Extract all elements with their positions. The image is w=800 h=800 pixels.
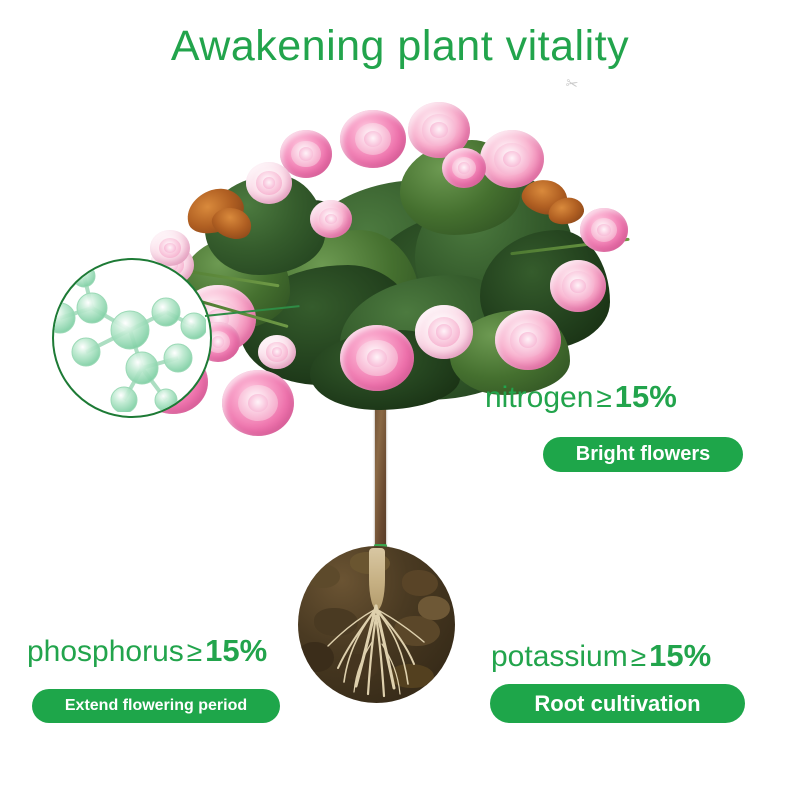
molecule-structure-diagram (52, 258, 212, 418)
product-infographic-poster: Awakening plant vitality ✂ (0, 0, 800, 800)
greater-equal-icon: ≥ (628, 641, 649, 672)
nutrient-label-potassium: potassium≥15% (491, 638, 711, 674)
nutrient-name-phosphorus: phosphorus (27, 635, 184, 668)
nutrient-value-phosphorus: 15% (205, 633, 267, 668)
nutrient-label-nitrogen: nitrogen≥15% (485, 379, 677, 415)
greater-equal-icon: ≥ (184, 636, 205, 667)
badge-root-cultivation[interactable]: Root cultivation (490, 684, 745, 723)
greater-equal-icon: ≥ (593, 382, 614, 413)
nutrient-name-nitrogen: nitrogen (485, 381, 593, 414)
nutrient-label-phosphorus: phosphorus≥15% (27, 633, 267, 669)
page-title: Awakening plant vitality (0, 22, 800, 71)
root-in-soil-photo (298, 546, 455, 703)
nutrient-value-nitrogen: 15% (615, 379, 677, 414)
badge-extend-flowering-period[interactable]: Extend flowering period (32, 689, 280, 723)
nutrient-value-potassium: 15% (649, 638, 711, 673)
badge-bright-flowers[interactable]: Bright flowers (543, 437, 743, 472)
nutrient-name-potassium: potassium (491, 640, 628, 673)
